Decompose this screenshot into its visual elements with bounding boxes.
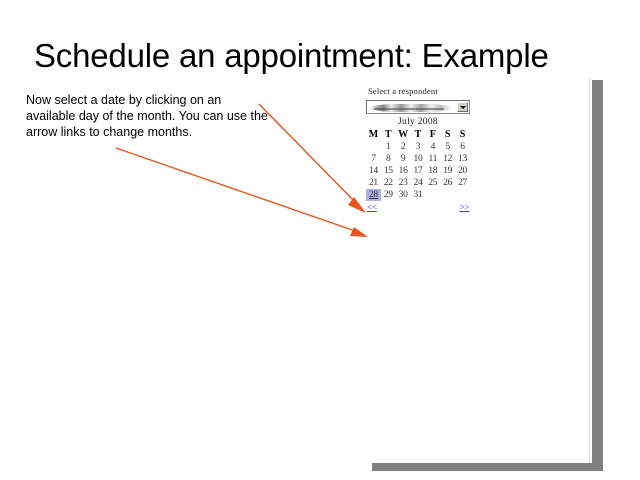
calendar-day-cell — [455, 189, 470, 201]
frame-shadow-bottom — [372, 463, 603, 471]
chevron-down-icon[interactable] — [457, 102, 468, 112]
slide-canvas: Schedule an appointment: Example Now sel… — [0, 0, 640, 480]
calendar-day-cell[interactable]: 5 — [440, 141, 455, 153]
frame-shadow-right — [592, 80, 603, 464]
calendar-day-cell — [366, 141, 381, 153]
frame-hairline — [589, 78, 590, 466]
calendar-day-cell[interactable]: 19 — [440, 165, 455, 177]
calendar-day-cell[interactable]: 13 — [455, 153, 470, 165]
calendar-widget: Select a respondent July 2008 M T W T F … — [366, 86, 478, 217]
calendar-navigation: << >> — [366, 203, 470, 217]
calendar-day-cell[interactable]: 25 — [425, 177, 440, 189]
respondent-select[interactable] — [366, 100, 470, 114]
calendar-day-cell[interactable]: 18 — [425, 165, 440, 177]
calendar-day-cell — [440, 189, 455, 201]
calendar-day-cell[interactable]: 6 — [455, 141, 470, 153]
calendar-day-cell[interactable]: 1 — [381, 141, 396, 153]
calendar-day-cell[interactable]: 8 — [381, 153, 396, 165]
calendar-day-cell[interactable]: 4 — [425, 141, 440, 153]
calendar-day-cell[interactable]: 7 — [366, 153, 381, 165]
calendar-day-cell[interactable]: 14 — [366, 165, 381, 177]
day-header-sat: S — [440, 128, 455, 141]
calendar-header-row: M T W T F S S — [366, 128, 470, 141]
day-header-tue: T — [381, 128, 396, 141]
calendar-day-cell[interactable]: 22 — [381, 177, 396, 189]
calendar-day-cell-selected[interactable]: 28 — [366, 189, 381, 201]
calendar-day-cell[interactable]: 31 — [411, 189, 426, 201]
calendar-day-cell[interactable]: 20 — [455, 165, 470, 177]
page-title: Schedule an appointment: Example — [34, 36, 614, 76]
calendar-day-cell[interactable]: 27 — [455, 177, 470, 189]
respondent-label: Select a respondent — [368, 86, 478, 96]
annotation-arrow-lower — [116, 148, 368, 237]
calendar-day-cell[interactable]: 17 — [411, 165, 426, 177]
calendar-grid: M T W T F S S 1 2 3 4 5 6 — [366, 128, 470, 201]
calendar-day-cell[interactable]: 21 — [366, 177, 381, 189]
calendar-day-cell[interactable]: 26 — [440, 177, 455, 189]
calendar-week-row: 28 29 30 31 — [366, 189, 470, 201]
arrow-head — [350, 227, 368, 237]
annotation-arrow-upper — [259, 104, 366, 213]
day-header-fri: F — [425, 128, 440, 141]
day-header-wed: W — [396, 128, 411, 141]
calendar-day-cell[interactable]: 24 — [411, 177, 426, 189]
arrow-shaft — [259, 104, 358, 205]
calendar-day-cell[interactable]: 15 — [381, 165, 396, 177]
instruction-text: Now select a date by clicking on an avai… — [26, 92, 272, 140]
calendar-month-label: July 2008 — [366, 117, 470, 127]
prev-month-link[interactable]: << — [367, 203, 377, 213]
calendar-day-cell[interactable]: 16 — [396, 165, 411, 177]
calendar-day-cell[interactable]: 23 — [396, 177, 411, 189]
calendar-week-row: 14 15 16 17 18 19 20 — [366, 165, 470, 177]
day-header-mon: M — [366, 128, 381, 141]
next-month-link[interactable]: >> — [459, 203, 469, 213]
calendar-day-cell[interactable]: 30 — [396, 189, 411, 201]
calendar-week-row: 1 2 3 4 5 6 — [366, 141, 470, 153]
respondent-selected-value — [370, 104, 452, 112]
calendar-day-cell[interactable]: 2 — [396, 141, 411, 153]
chevron-down-glyph — [460, 106, 466, 109]
arrow-head — [348, 197, 366, 213]
calendar-day-cell[interactable]: 11 — [425, 153, 440, 165]
calendar-week-row: 21 22 23 24 25 26 27 — [366, 177, 470, 189]
arrow-shaft — [116, 148, 358, 232]
calendar-day-cell — [425, 189, 440, 201]
calendar-day-cell[interactable]: 12 — [440, 153, 455, 165]
calendar-day-cell[interactable]: 9 — [396, 153, 411, 165]
calendar-day-cell[interactable]: 29 — [381, 189, 396, 201]
day-header-thu: T — [411, 128, 426, 141]
calendar-day-cell[interactable]: 3 — [411, 141, 426, 153]
day-header-sun: S — [455, 128, 470, 141]
calendar-day-cell[interactable]: 10 — [411, 153, 426, 165]
calendar-week-row: 7 8 9 10 11 12 13 — [366, 153, 470, 165]
